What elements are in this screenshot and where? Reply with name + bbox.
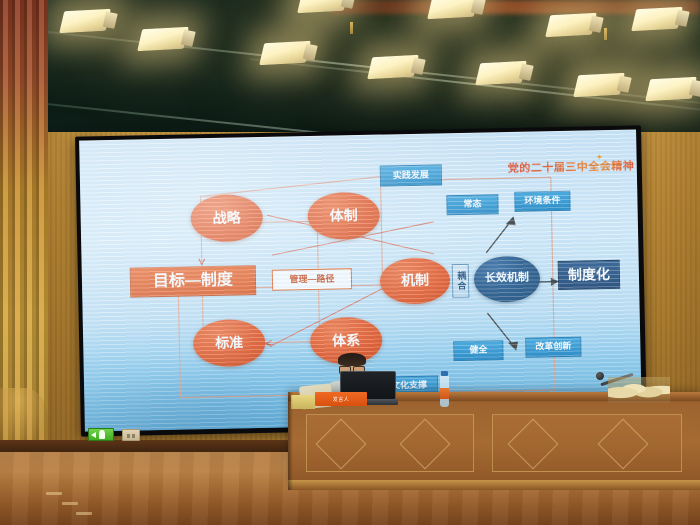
node-long-term-mechanism: 长效机制: [474, 255, 541, 302]
nameplate: 发言人: [315, 392, 367, 406]
podium-left-shadow: [288, 392, 293, 490]
node-practice-development: 实践发展: [380, 164, 442, 186]
node-reform-innovation: 改革创新: [525, 337, 581, 358]
exit-arrow-icon: [91, 432, 96, 438]
stage-spotlight: [137, 27, 189, 51]
stage-spotlight: [59, 9, 111, 33]
running-man-icon: [99, 430, 105, 439]
podium-diamond: [316, 419, 367, 470]
logo-spark-icon: ✦: [595, 152, 603, 163]
podium-panel: [492, 414, 682, 472]
floor-marking: [46, 492, 62, 495]
node-management-path: 管理—路径: [272, 268, 352, 291]
floor-marking: [76, 512, 92, 515]
stage-spotlight: [427, 0, 479, 19]
node-goal-institution: 目标—制度: [130, 265, 257, 298]
stage-curtain: [0, 0, 48, 448]
podium-panel: [306, 414, 474, 472]
lighting-rail: [250, 58, 700, 112]
stage-spotlight: [475, 61, 527, 85]
node-coupling: 耦合: [452, 264, 470, 298]
stage-spotlight: [545, 13, 597, 37]
floor-marking: [62, 502, 78, 505]
stage-spotlight: [645, 77, 697, 101]
node-mechanism: 机制: [380, 257, 451, 304]
power-outlet: [122, 429, 140, 441]
yellow-box: [291, 395, 315, 409]
stage-spotlight: [631, 7, 683, 31]
stage-spotlight: [367, 55, 419, 79]
node-system: 体制: [307, 192, 380, 240]
node-standard: 标准: [193, 319, 266, 367]
emergency-exit-sign: [88, 428, 114, 441]
lamp-stem: [604, 28, 607, 40]
podium-diamond: [598, 419, 649, 470]
lamp-stem: [350, 22, 353, 34]
presenter-hair: [338, 353, 366, 366]
microphone-icon: [596, 372, 604, 380]
slide-logo: 党的二十届三中全会精神: [508, 157, 635, 176]
podium-diamond: [400, 419, 451, 470]
node-institutionalization: 制度化: [558, 260, 621, 290]
bottle-label: [440, 388, 449, 399]
auditorium-scene: 实践发展 战略 体制 目标—制度 管理—路径 标准 体系 机制 耦合 长效机制 …: [0, 0, 700, 525]
node-strategy: 战略: [190, 194, 263, 242]
flower-arrangement: [608, 377, 670, 403]
node-normal-state: 常态: [446, 194, 498, 215]
stage-spotlight: [259, 41, 311, 65]
podium-diamond: [508, 419, 559, 470]
node-environmental-conditions: 环境条件: [514, 191, 570, 212]
node-soundness: 健全: [453, 340, 503, 361]
podium-base-trim: [288, 480, 700, 490]
stage-front-edge: [0, 440, 288, 452]
stage-spotlight: [573, 73, 625, 97]
bottle-cap: [441, 371, 448, 376]
